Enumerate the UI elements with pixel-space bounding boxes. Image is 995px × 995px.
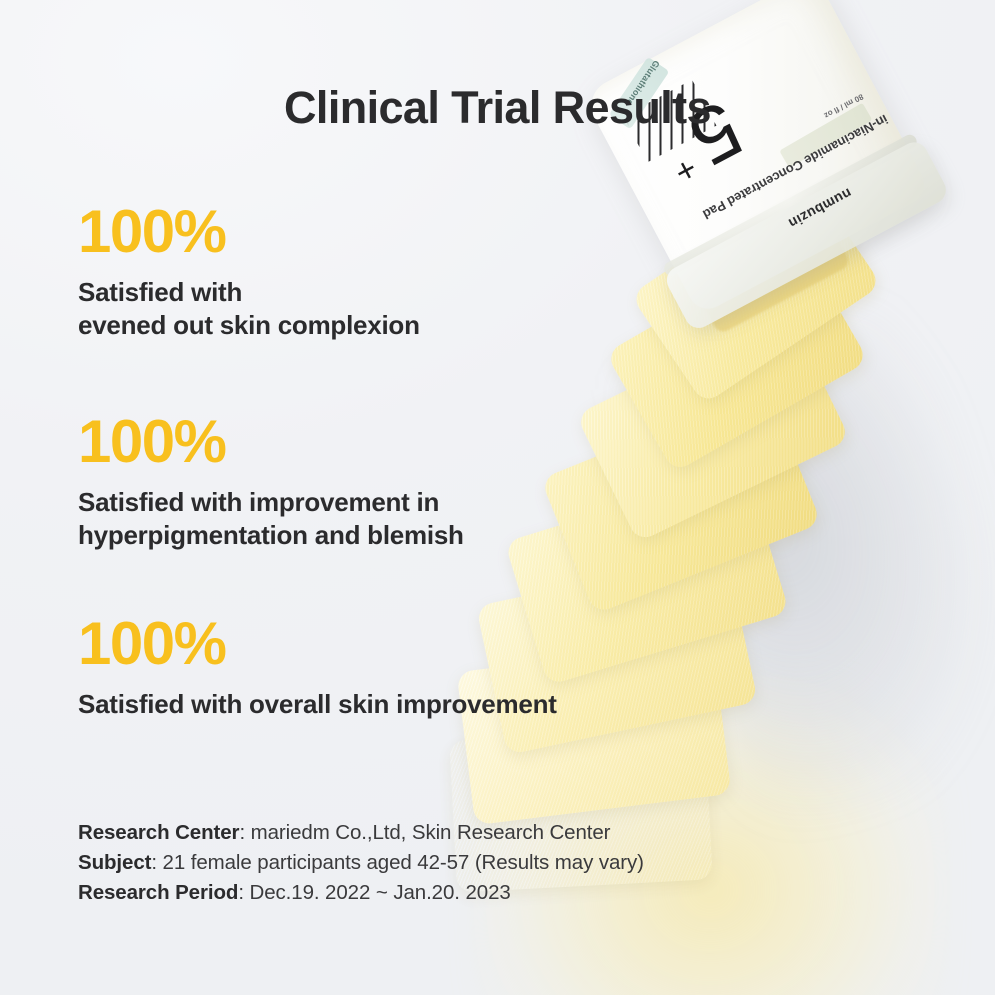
stat-block-complexion: 100% Satisfied with evened out skin comp… xyxy=(78,200,420,341)
stat-block-overall: 100% Satisfied with overall skin improve… xyxy=(78,612,557,721)
stat-value: 100% xyxy=(78,200,420,265)
research-separator: : xyxy=(239,821,250,844)
research-value: 21 female participants aged 42-57 (Resul… xyxy=(163,851,644,874)
research-value: mariedm Co.,Ltd, Skin Research Center xyxy=(251,821,611,844)
clinical-trial-results-poster: Glutathione + 5 in-Niacinamide Concentra… xyxy=(0,0,995,995)
research-label: Subject xyxy=(78,851,151,874)
stat-value: 100% xyxy=(78,410,464,475)
research-row-period: Research Period: Dec.19. 2022 ~ Jan.20. … xyxy=(78,878,644,908)
research-details: Research Center: mariedm Co.,Ltd, Skin R… xyxy=(78,818,644,908)
stat-block-hyperpigmentation: 100% Satisfied with improvement in hyper… xyxy=(78,410,464,551)
research-separator: : xyxy=(238,881,249,904)
research-label: Research Period xyxy=(78,881,238,904)
research-separator: : xyxy=(151,851,162,874)
research-value: Dec.19. 2022 ~ Jan.20. 2023 xyxy=(250,881,511,904)
stat-value: 100% xyxy=(78,612,557,677)
stat-label: Satisfied with improvement in hyperpigme… xyxy=(78,486,464,552)
page-title: Clinical Trial Results xyxy=(0,82,995,134)
research-label: Research Center xyxy=(78,821,239,844)
stat-label: Satisfied with overall skin improvement xyxy=(78,688,557,721)
poster-content: Clinical Trial Results 100% Satisfied wi… xyxy=(0,0,995,995)
research-row-subject: Subject: 21 female participants aged 42-… xyxy=(78,848,644,878)
stat-label: Satisfied with evened out skin complexio… xyxy=(78,276,420,342)
research-row-center: Research Center: mariedm Co.,Ltd, Skin R… xyxy=(78,818,644,848)
